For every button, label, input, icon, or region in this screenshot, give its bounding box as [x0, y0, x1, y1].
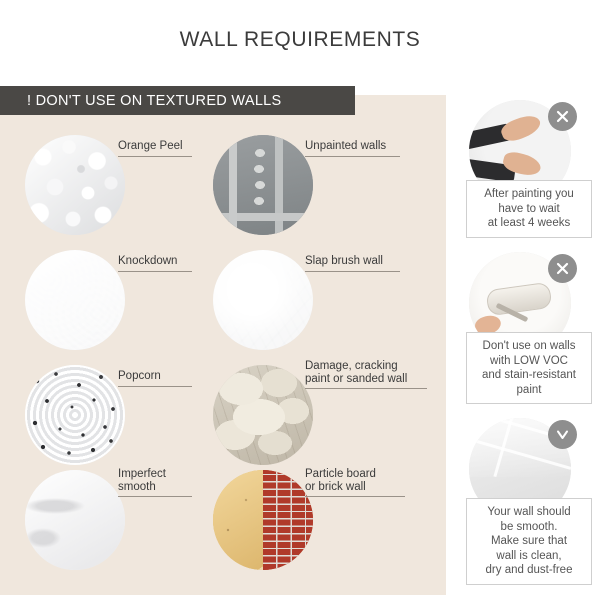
knockdown-texture [25, 250, 125, 350]
texture-label-popcorn: Popcorn [118, 370, 192, 387]
imperfect-smooth-texture [25, 470, 125, 570]
texture-label-slap-brush-wall: Slap brush wall [305, 255, 400, 272]
cross-icon [548, 254, 577, 283]
slap-brush-texture [213, 250, 313, 350]
damaged-wall-texture [213, 365, 313, 465]
tip-caption-low-voc-paint: Don't use on walls with LOW VOC and stai… [466, 332, 592, 404]
tips-column: After painting you have to wait at least… [455, 0, 600, 600]
orange-peel-texture [25, 135, 125, 235]
popcorn-texture [25, 365, 125, 465]
texture-label-particle-board-brick: Particle board or brick wall [305, 468, 405, 497]
particle-board-half [213, 470, 263, 570]
texture-grid: Orange Peel Unpainted walls Knockdown Sl… [0, 95, 446, 595]
tip-caption-smooth-clean-wall: Your wall should be smooth. Make sure th… [466, 498, 592, 585]
unpainted-wall-texture [213, 135, 313, 235]
cross-icon [548, 102, 577, 131]
texture-label-damaged-wall: Damage, cracking paint or sanded wall [305, 360, 427, 389]
check-icon [548, 420, 577, 449]
texture-label-imperfect-smooth: Imperfect smooth [118, 468, 192, 497]
tip-caption-wait-4-weeks: After painting you have to wait at least… [466, 180, 592, 238]
texture-label-unpainted-walls: Unpainted walls [305, 140, 400, 157]
texture-label-orange-peel: Orange Peel [118, 140, 192, 157]
texture-label-knockdown: Knockdown [118, 255, 192, 272]
particle-board-brick-texture [213, 470, 313, 570]
